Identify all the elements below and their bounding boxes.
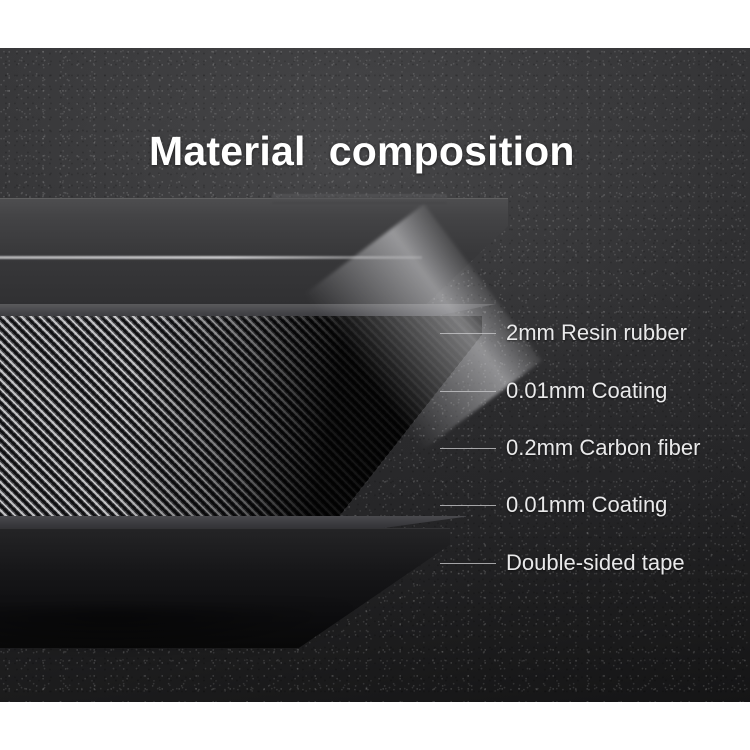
leader-line-icon	[440, 563, 496, 564]
callout-label: 0.2mm Carbon fiber	[506, 435, 700, 461]
leader-line-icon	[440, 333, 496, 334]
callout-resin-rubber: 2mm Resin rubber	[440, 320, 687, 346]
callout-label: 2mm Resin rubber	[506, 320, 687, 346]
callout-double-sided-tape: Double-sided tape	[440, 550, 685, 576]
callout-carbon-fiber: 0.2mm Carbon fiber	[440, 435, 700, 461]
callout-coating-bottom: 0.01mm Coating	[440, 492, 667, 518]
callout-coating-top: 0.01mm Coating	[440, 378, 667, 404]
callout-list: 2mm Resin rubber 0.01mm Coating 0.2mm Ca…	[0, 48, 750, 702]
callout-label: 0.01mm Coating	[506, 492, 667, 518]
callout-label: Double-sided tape	[506, 550, 685, 576]
product-image: Material composition 2mm Resin rubber 0.…	[0, 0, 750, 750]
leader-line-icon	[440, 448, 496, 449]
callout-label: 0.01mm Coating	[506, 378, 667, 404]
leader-line-icon	[440, 391, 496, 392]
leader-line-icon	[440, 505, 496, 506]
photo-panel: Material composition 2mm Resin rubber 0.…	[0, 48, 750, 702]
